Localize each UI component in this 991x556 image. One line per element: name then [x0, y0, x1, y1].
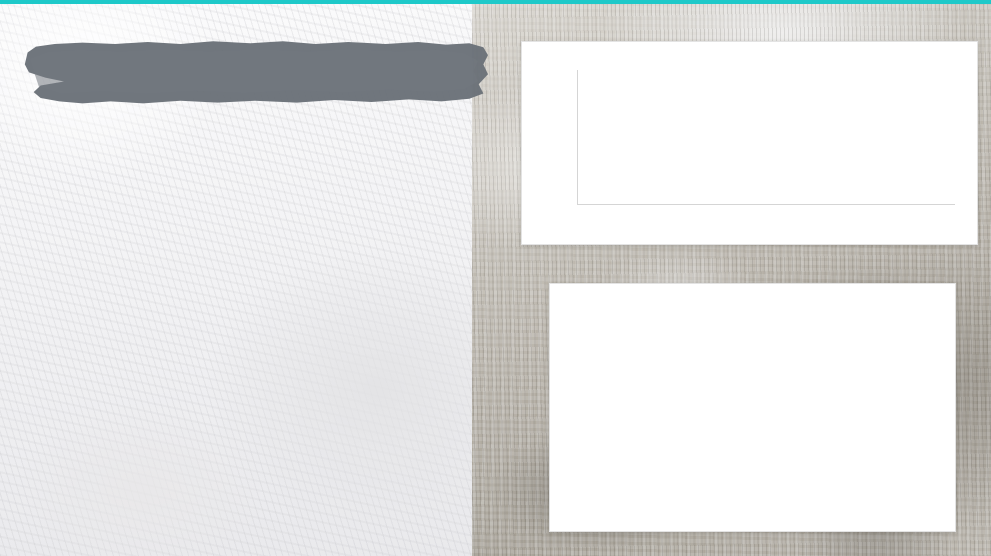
pie-chart-plot-area [560, 332, 947, 477]
pie-chart-card [549, 283, 956, 532]
page-title [22, 34, 488, 108]
slide-canvas [0, 0, 991, 556]
top-accent-bar [0, 0, 991, 4]
line-chart-card [521, 41, 978, 245]
line-chart-plot-area [577, 70, 955, 205]
title-block [22, 34, 492, 108]
